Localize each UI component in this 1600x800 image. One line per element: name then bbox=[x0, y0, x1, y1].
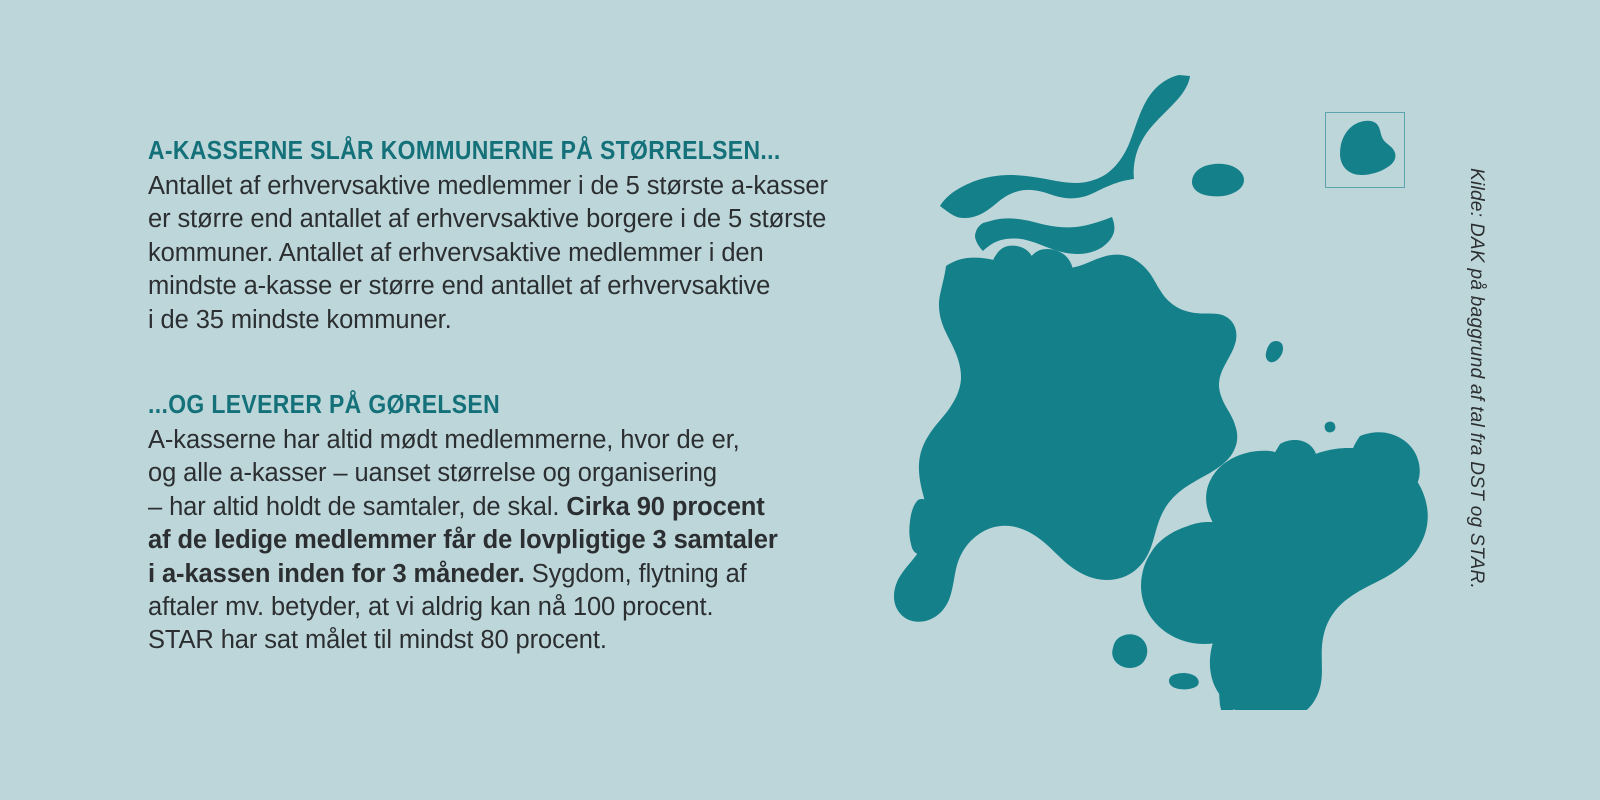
odsherred bbox=[1273, 440, 1317, 479]
body-text-bold: Cirka 90 procent bbox=[566, 493, 764, 521]
body-line-mixed: – har altid holdt de samtaler, de skal. … bbox=[148, 491, 908, 524]
bornholm-inset bbox=[1325, 112, 1405, 188]
body-line: og alle a-kasser – uanset størrelse og o… bbox=[148, 457, 908, 490]
body-line-mixed: i a-kassen inden for 3 måneder. Sygdom, … bbox=[148, 558, 908, 591]
laeso-island bbox=[1192, 164, 1244, 197]
body-line: kommuner. Antallet af erhvervsaktive med… bbox=[148, 237, 908, 270]
body-line: Antallet af erhvervsaktive medlemmer i d… bbox=[148, 170, 908, 203]
body-line: A-kasserne har altid mødt medlemmerne, h… bbox=[148, 424, 908, 457]
north-jutland bbox=[940, 75, 1190, 218]
anholt-island bbox=[1266, 341, 1283, 362]
body-line: mindste a-kasse er større end antallet a… bbox=[148, 270, 908, 303]
body-line: i de 35 mindste kommuner. bbox=[148, 304, 908, 337]
body-text-plain: Sygdom, flytning af bbox=[525, 560, 747, 588]
als-island bbox=[1112, 634, 1147, 668]
section-body-1: Antallet af erhvervsaktive medlemmer i d… bbox=[148, 170, 908, 337]
body-line: er større end antallet af erhvervsaktive… bbox=[148, 203, 908, 236]
body-line-bold: af de ledige medlemmer får de lovpligtig… bbox=[148, 524, 908, 557]
infographic-canvas: A-KASSERNE SLÅR KOMMUNERNE PÅ STØRRELSEN… bbox=[0, 0, 1600, 800]
section-heading-2: ...OG LEVERER PÅ GØRELSEN bbox=[148, 390, 832, 420]
body-line: aftaler mv. betyder, at vi aldrig kan nå… bbox=[148, 591, 908, 624]
hesselo-island bbox=[1325, 422, 1336, 433]
body-text-bold: i a-kassen inden for 3 måneder. bbox=[148, 560, 525, 588]
north-zealand-spur bbox=[1347, 432, 1420, 506]
aero-island bbox=[1169, 673, 1199, 689]
text-column: A-KASSERNE SLÅR KOMMUNERNE PÅ STØRRELSEN… bbox=[148, 136, 908, 658]
body-line: STAR har sat målet til mindst 80 procent… bbox=[148, 624, 908, 657]
section-spacer bbox=[148, 337, 908, 390]
bornholm-inset-svg bbox=[1326, 113, 1404, 187]
section-body-2: A-kasserne har altid mødt medlemmerne, h… bbox=[148, 424, 908, 658]
body-text-plain: – har altid holdt de samtaler, de skal. bbox=[148, 493, 566, 521]
zealand-fjord-islet bbox=[1311, 492, 1322, 503]
bornholm-island bbox=[1340, 121, 1395, 175]
section-heading-1: A-KASSERNE SLÅR KOMMUNERNE PÅ STØRRELSEN… bbox=[148, 136, 832, 166]
